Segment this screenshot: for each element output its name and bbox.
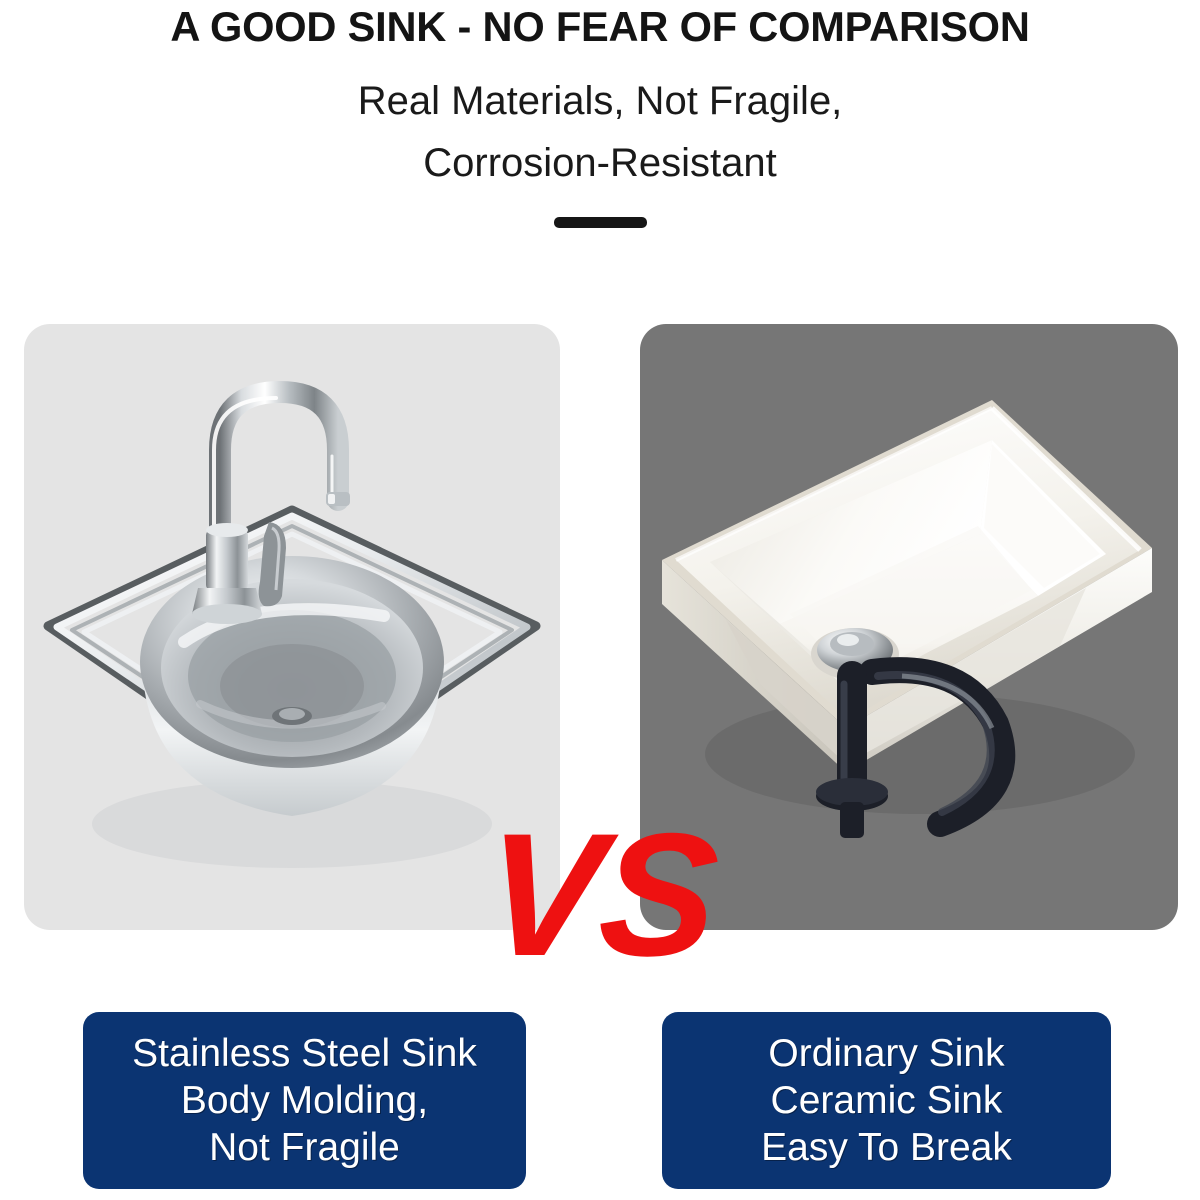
caption-box-stainless-steel[interactable]: Stainless Steel Sink Body Molding, Not F… — [83, 1012, 526, 1189]
page-title: A GOOD SINK - NO FEAR OF COMPARISON — [6, 0, 1194, 52]
header: A GOOD SINK - NO FEAR OF COMPARISON Real… — [0, 0, 1200, 228]
divider-rule — [554, 217, 647, 228]
caption-box-ceramic[interactable]: Ordinary Sink Ceramic Sink Easy To Break — [662, 1012, 1111, 1189]
caption-line: Ordinary Sink — [768, 1030, 1004, 1077]
comparison-panels: VS — [0, 324, 1200, 930]
subtitle: Real Materials, Not Fragile, Corrosion-R… — [0, 52, 1200, 194]
subtitle-line-1: Real Materials, Not Fragile, — [0, 70, 1200, 132]
caption-line: Body Molding, — [181, 1077, 428, 1124]
vs-badge: VS — [464, 812, 736, 987]
caption-line: Not Fragile — [209, 1124, 400, 1171]
caption-boxes: Stainless Steel Sink Body Molding, Not F… — [0, 1012, 1200, 1192]
caption-line: Ceramic Sink — [771, 1077, 1003, 1124]
caption-line: Stainless Steel Sink — [132, 1030, 477, 1077]
subtitle-line-2: Corrosion-Resistant — [0, 132, 1200, 194]
caption-line: Easy To Break — [761, 1124, 1012, 1171]
